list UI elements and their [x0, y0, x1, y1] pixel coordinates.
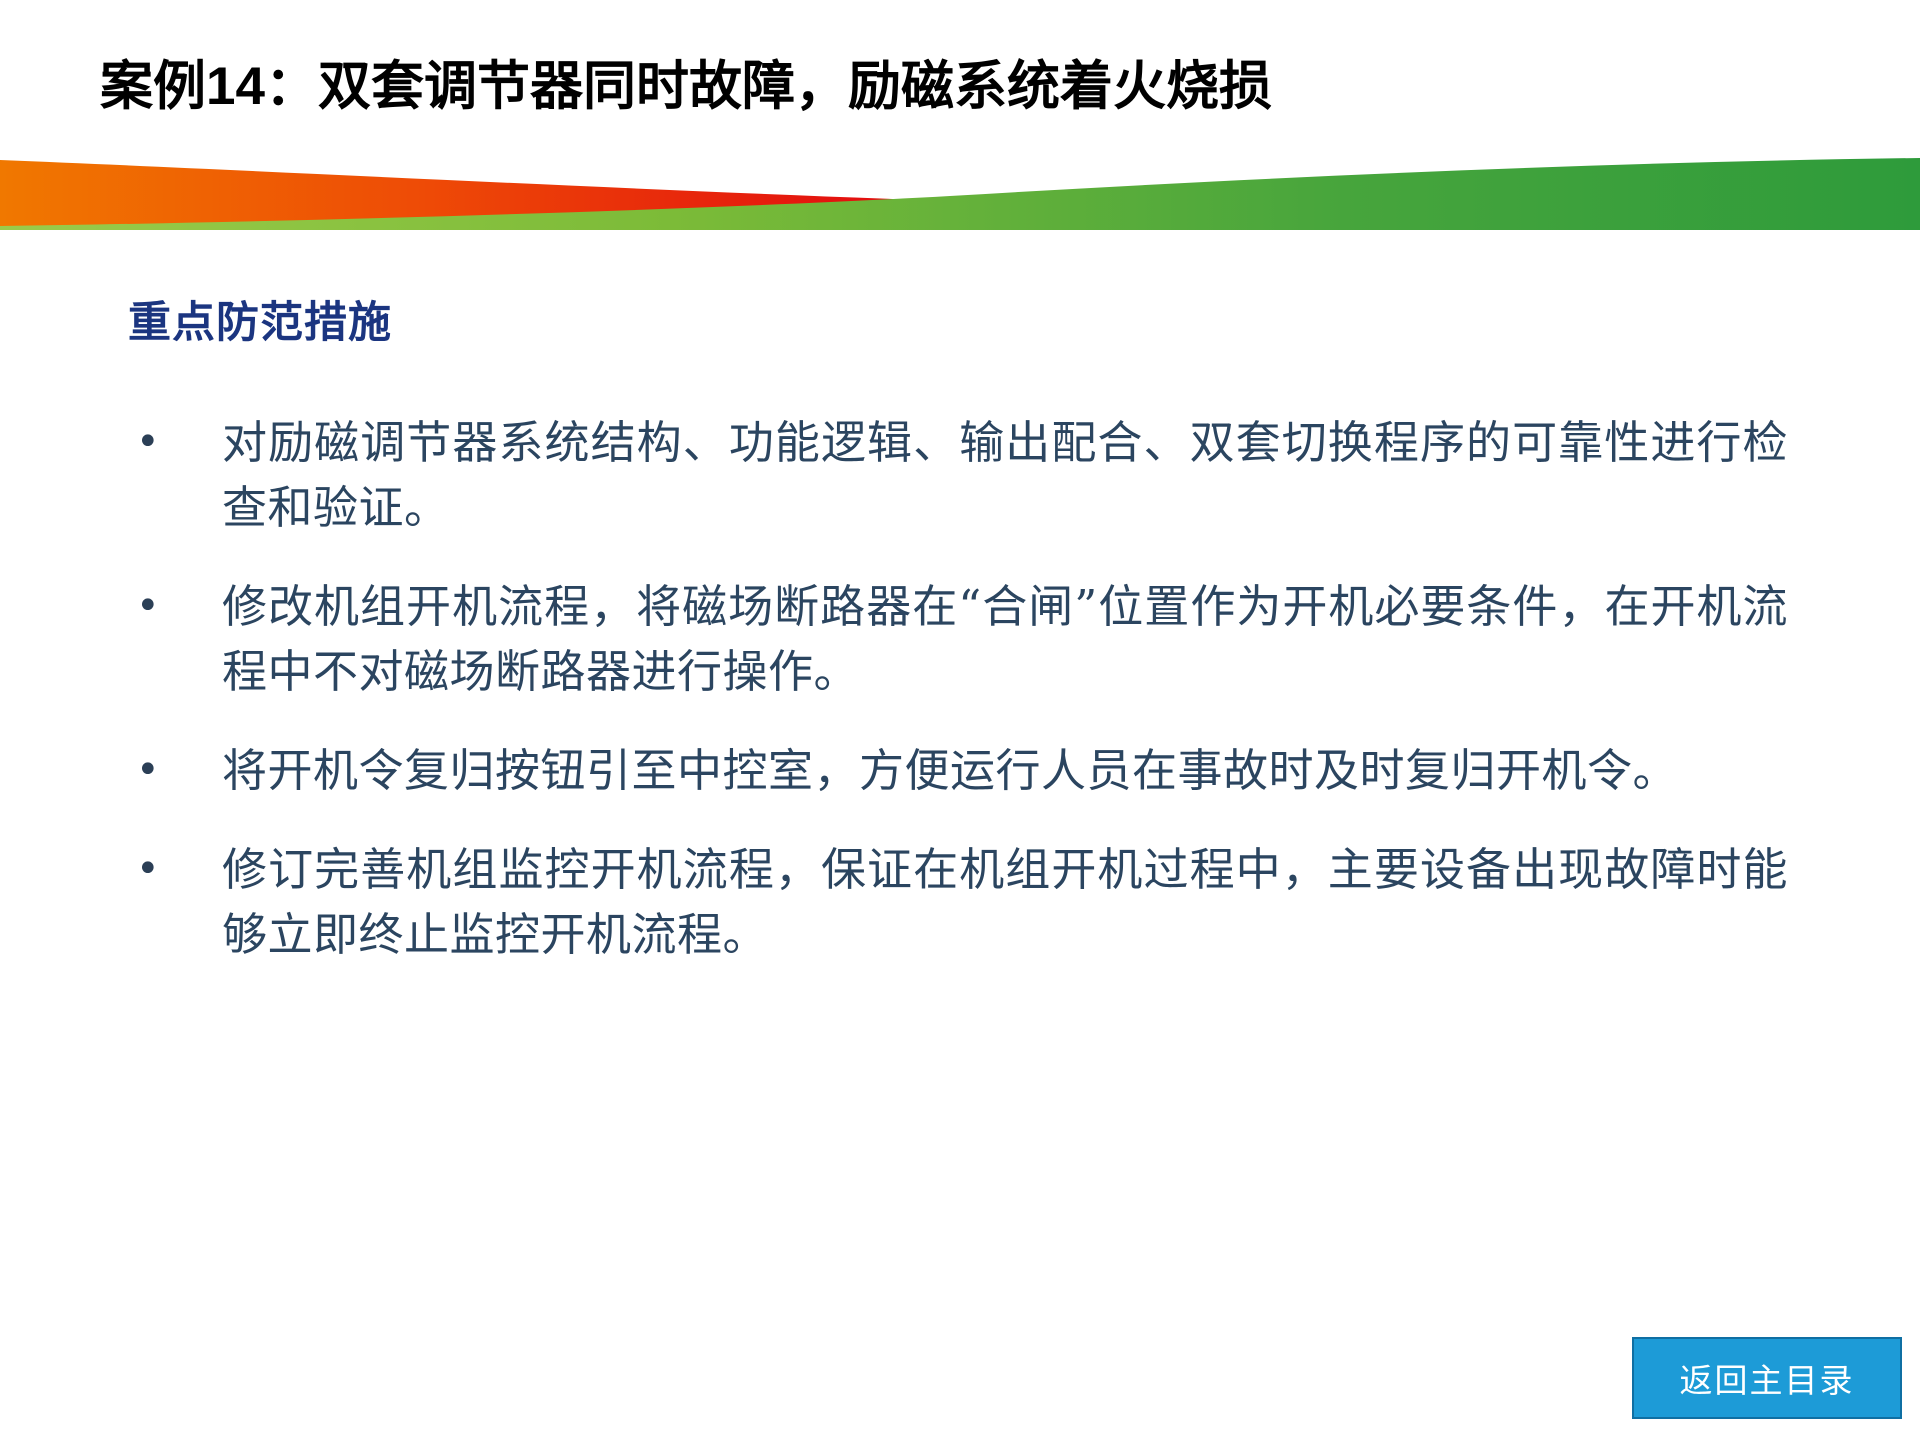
title-area: 案例14：双套调节器同时故障，励磁系统着火烧损	[0, 0, 1920, 170]
bullet-point-icon: •	[128, 574, 222, 638]
list-item: • 将开机令复归按钮引至中控室，方便运行人员在事故时及时复归开机令。	[128, 738, 1788, 803]
list-item: • 修订完善机组监控开机流程，保证在机组开机过程中，主要设备出现故障时能够立即终…	[128, 837, 1788, 967]
list-item: • 对励磁调节器系统结构、功能逻辑、输出配合、双套切换程序的可靠性进行检查和验证…	[128, 410, 1788, 540]
bullet-point-icon: •	[128, 738, 222, 802]
return-to-main-menu-button[interactable]: 返回主目录	[1632, 1337, 1902, 1419]
slide-root: 案例14：双套调节器同时故障，励磁系统着火烧损	[0, 0, 1920, 1440]
section-heading: 重点防范措施	[128, 288, 392, 350]
wave-warm-band	[0, 160, 1920, 230]
bullet-point-icon: •	[128, 837, 222, 901]
page-title: 案例14：双套调节器同时故障，励磁系统着火烧损	[100, 58, 1272, 116]
bullet-text: 修订完善机组监控开机流程，保证在机组开机过程中，主要设备出现故障时能够立即终止监…	[222, 837, 1788, 967]
bullet-list: • 对励磁调节器系统结构、功能逻辑、输出配合、双套切换程序的可靠性进行检查和验证…	[128, 410, 1788, 1001]
bullet-text: 对励磁调节器系统结构、功能逻辑、输出配合、双套切换程序的可靠性进行检查和验证。	[222, 410, 1788, 540]
bullet-point-icon: •	[128, 410, 222, 474]
bullet-text: 修改机组开机流程，将磁场断路器在“合闸”位置作为开机必要条件，在开机流程中不对磁…	[222, 574, 1788, 704]
bullet-text: 将开机令复归按钮引至中控室，方便运行人员在事故时及时复归开机令。	[222, 738, 1788, 803]
return-to-main-menu-label: 返回主目录	[1680, 1354, 1855, 1402]
list-item: • 修改机组开机流程，将磁场断路器在“合闸”位置作为开机必要条件，在开机流程中不…	[128, 574, 1788, 704]
